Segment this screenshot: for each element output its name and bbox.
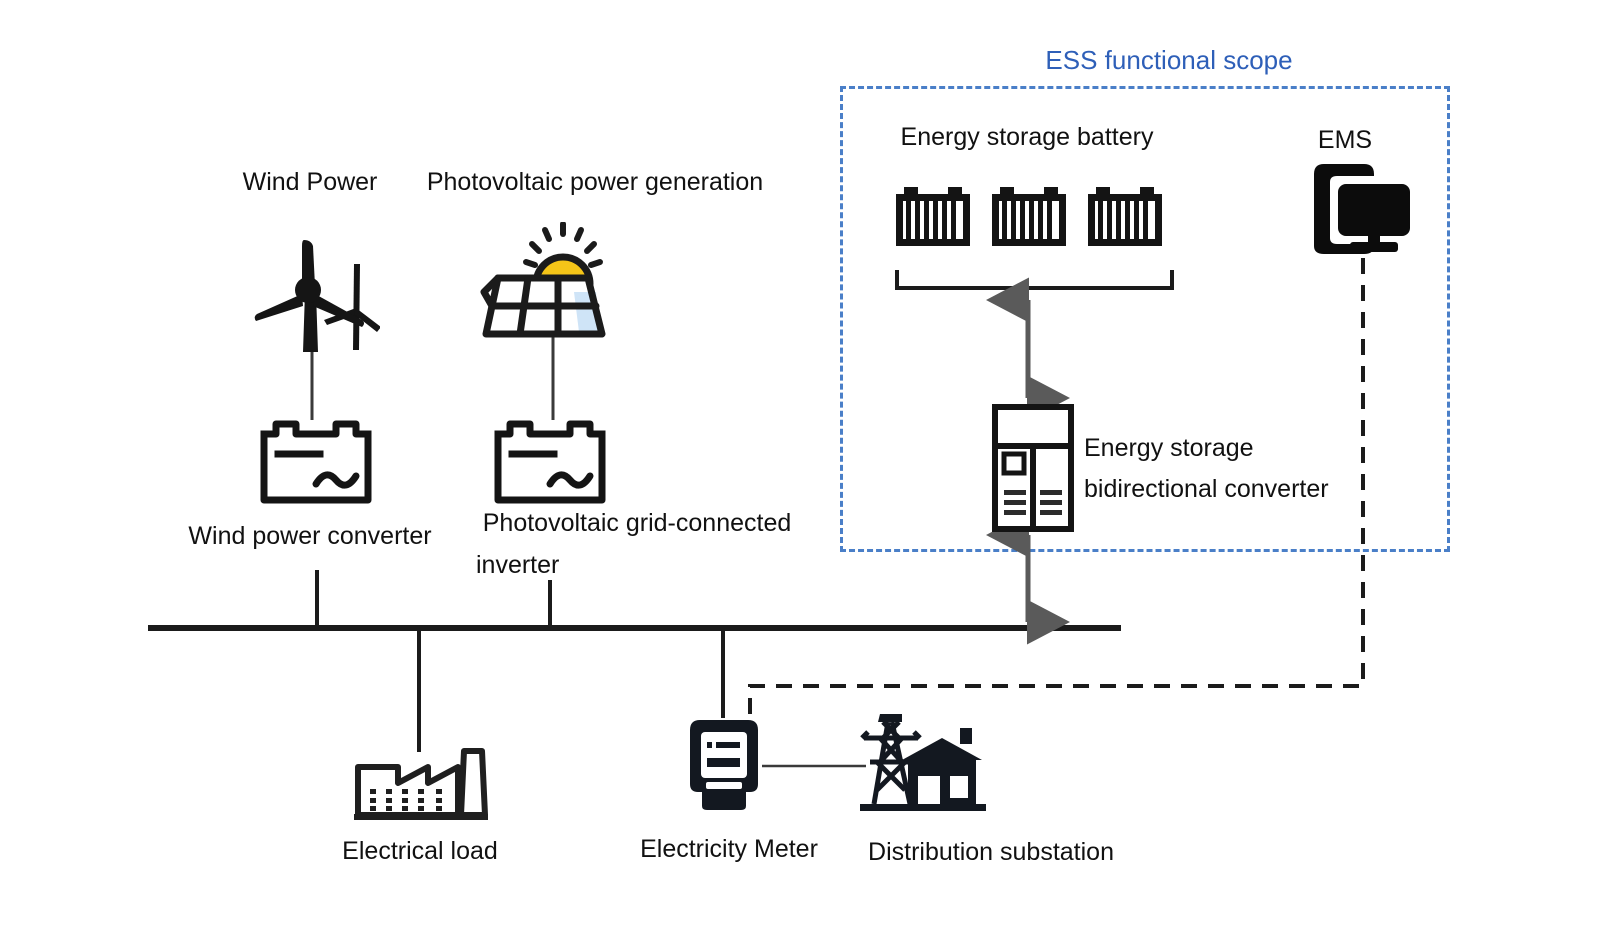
wind-turbine-icon (250, 228, 380, 353)
ems-label: EMS (1318, 120, 1372, 160)
computer-monitor-icon (1306, 162, 1414, 258)
diagram-canvas: ESS functional scope Wind Power Photovol… (0, 0, 1599, 926)
converter-cabinet-icon (992, 404, 1074, 532)
electricity-meter-icon (686, 716, 762, 814)
bidirectional-converter-label-line1: Energy storage (1084, 428, 1254, 468)
wind-converter-icon (258, 418, 376, 506)
photovoltaic-power-label: Photovoltaic power generation (427, 162, 763, 202)
wind-power-converter-label: Wind power converter (188, 516, 431, 556)
transmission-tower-house-icon (858, 708, 986, 814)
solar-panel-icon (478, 222, 623, 340)
wind-power-label: Wind Power (243, 162, 378, 202)
pv-inverter-icon (492, 418, 610, 506)
electricity-meter-label: Electricity Meter (640, 829, 818, 869)
factory-icon (352, 745, 488, 823)
pv-inverter-label-line1: Photovoltaic grid-connected (483, 503, 792, 543)
ess-scope-title: ESS functional scope (1045, 40, 1292, 80)
energy-storage-battery-label: Energy storage battery (901, 117, 1154, 157)
bidirectional-converter-label-line2: bidirectional converter (1084, 469, 1329, 509)
battery-bank-icon (890, 178, 1180, 254)
distribution-substation-label: Distribution substation (868, 832, 1114, 872)
pv-inverter-label-line2: inverter (476, 545, 559, 585)
electrical-load-label: Electrical load (342, 831, 498, 871)
